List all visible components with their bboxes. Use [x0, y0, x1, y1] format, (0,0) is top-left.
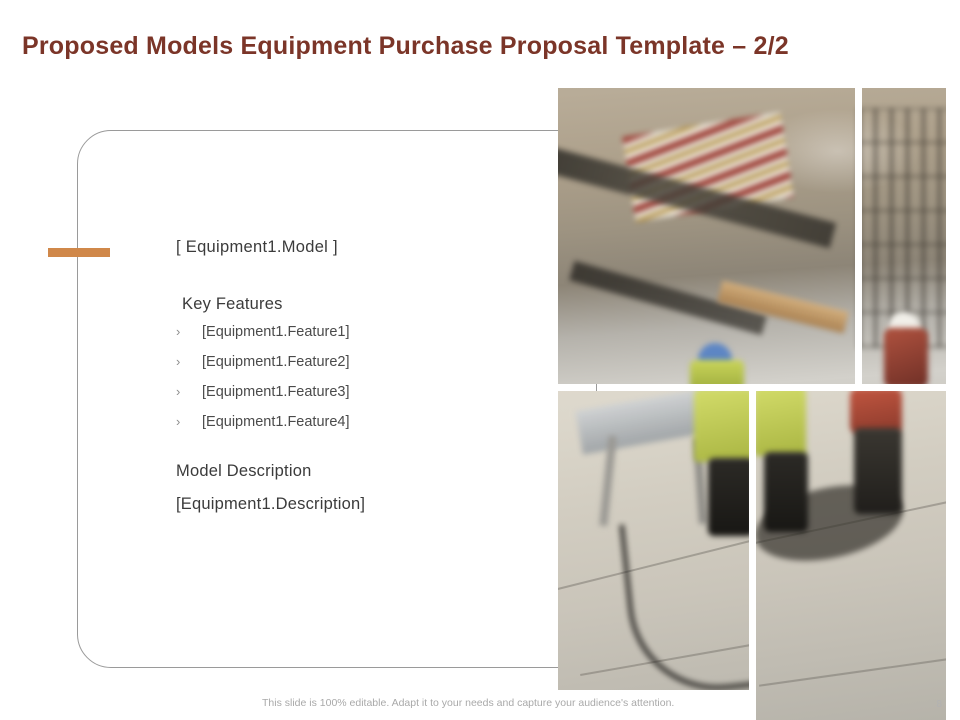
photo-construction-site-overview	[558, 88, 855, 384]
chevron-right-icon: ›	[176, 414, 202, 429]
feature-label: [Equipment1.Feature1]	[202, 324, 350, 340]
photo-scaffolding-worker	[862, 88, 946, 384]
model-label: [ Equipment1.Model ]	[176, 238, 576, 257]
description-block: Model Description [Equipment1.Descriptio…	[176, 462, 576, 514]
accent-bar	[48, 248, 110, 257]
image-collage	[558, 88, 946, 720]
footer-note: This slide is 100% editable. Adapt it to…	[262, 697, 674, 709]
description-heading: Model Description	[176, 462, 576, 481]
content-block: [ Equipment1.Model ] Key Features › [Equ…	[176, 238, 576, 514]
list-item: › [Equipment1.Feature1]	[176, 324, 576, 340]
page-number: 8	[936, 699, 942, 710]
feature-label: [Equipment1.Feature3]	[202, 384, 350, 400]
list-item: › [Equipment1.Feature3]	[176, 384, 576, 400]
photo-worker-with-saw	[558, 391, 749, 690]
photo-worker-on-slab	[756, 391, 946, 720]
chevron-right-icon: ›	[176, 324, 202, 339]
chevron-right-icon: ›	[176, 354, 202, 369]
list-item: › [Equipment1.Feature4]	[176, 414, 576, 430]
feature-label: [Equipment1.Feature4]	[202, 414, 350, 430]
description-body: [Equipment1.Description]	[176, 495, 576, 514]
page-title: Proposed Models Equipment Purchase Propo…	[22, 32, 789, 61]
list-item: › [Equipment1.Feature2]	[176, 354, 576, 370]
key-features-heading: Key Features	[176, 295, 576, 314]
chevron-right-icon: ›	[176, 384, 202, 399]
feature-list: › [Equipment1.Feature1] › [Equipment1.Fe…	[176, 324, 576, 430]
feature-label: [Equipment1.Feature2]	[202, 354, 350, 370]
